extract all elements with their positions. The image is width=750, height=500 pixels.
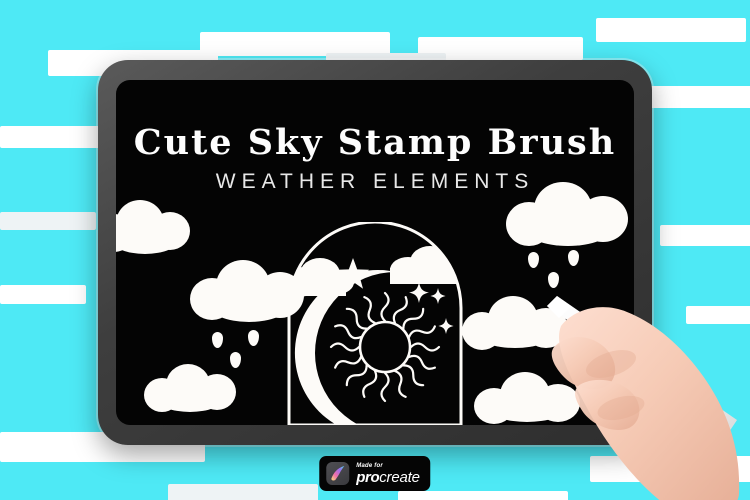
poster-canvas: Cute Sky Stamp Brush WEATHER ELEMENTS [0, 0, 750, 500]
sparkle-star-icon [430, 288, 445, 304]
badge-brand-bold: pro [356, 469, 379, 486]
rain-drop [212, 332, 223, 348]
cloud-plain-left-bottom [144, 362, 240, 414]
procreate-logo-icon [326, 462, 349, 485]
page-title: Cute Sky Stamp Brush [116, 122, 634, 163]
cloud-plain-left-top [116, 198, 196, 256]
badge-text: Made for procreate [356, 463, 419, 485]
rain-drop [528, 252, 539, 268]
badge-brand-light: create [379, 469, 420, 486]
made-for-procreate-badge[interactable]: Made for procreate [319, 456, 430, 491]
rain-drop [248, 330, 259, 346]
center-artwork [280, 222, 470, 425]
tablet-device: Cute Sky Stamp Brush WEATHER ELEMENTS [98, 60, 652, 445]
badge-brand: procreate [356, 470, 419, 485]
rain-drop [548, 272, 559, 288]
artwork-cloud-icon [390, 246, 470, 284]
cloud-rain-right-top [506, 180, 630, 248]
sun-icon [331, 293, 439, 401]
cloud-plain-right-bottom [474, 370, 582, 424]
tablet-screen: Cute Sky Stamp Brush WEATHER ELEMENTS [116, 80, 634, 425]
sparkle-star-icon [438, 318, 453, 334]
sparkle-star-icon [409, 282, 429, 303]
cloud-plain-right-mid [462, 294, 570, 350]
rain-drop [568, 250, 579, 266]
